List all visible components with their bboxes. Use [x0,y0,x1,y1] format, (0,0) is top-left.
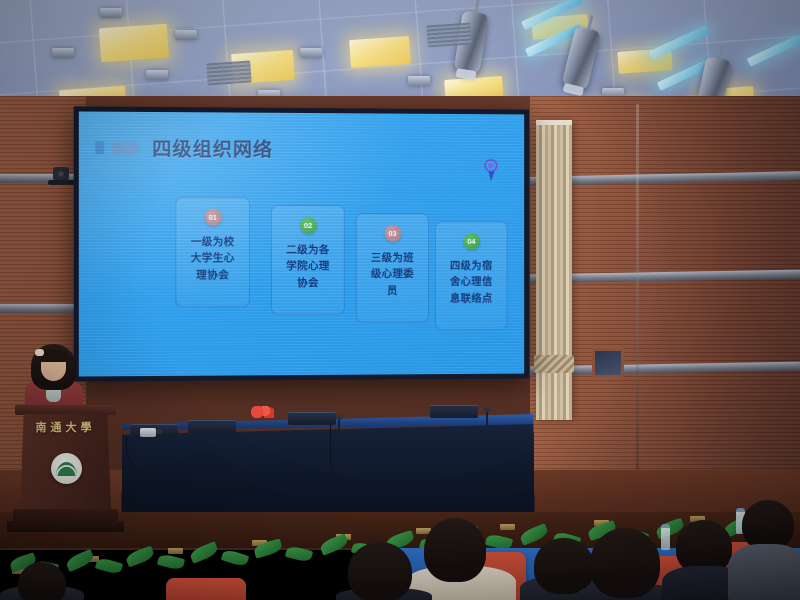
plant-leaf [221,548,249,567]
card-line: 学院心理 [286,258,330,274]
card-text: 二级为各 学院心理 协会 [286,242,330,291]
card-number-badge: 01 [204,209,221,226]
attendee-head [18,562,66,600]
card-number-badge: 02 [300,217,317,234]
curtain-tieback [534,355,574,373]
plant-leaf [65,549,96,572]
card-number-badge: 04 [463,233,480,250]
cable [330,424,350,482]
card-line: 四级为宿 [450,258,493,274]
attendee-head [424,518,486,582]
auditorium-seat [166,578,246,600]
card-text: 三级为班 级心理委 员 [371,250,414,299]
led-screen: 四级组织网络 01 一级为校 大学生心 理协会 [74,106,529,381]
card-number-badge: 03 [384,225,401,242]
plant-leaf [95,557,123,576]
slide-card-row: 01 一级为校 大学生心 理协会 02 二级为各 学院心理 协会 [79,112,524,377]
presenter [23,344,85,410]
table-nameplate [430,405,478,418]
attendee-head [534,538,594,594]
podium-university-name: 南通大學 [18,419,113,435]
wall-camera-bracket [48,180,76,185]
card-line: 理协会 [191,267,235,283]
plant-leaf [125,546,156,568]
wall-recessed-panel [592,348,624,378]
card-line: 协会 [286,274,330,290]
card-line: 一级为校 [191,234,235,250]
card-text: 一级为校 大学生心 理协会 [191,234,235,283]
university-emblem-icon [51,453,82,484]
attendee-head [348,542,412,600]
org-level-card: 03 三级为班 级心理委 员 [356,213,429,323]
plant-leaf [253,538,283,558]
table-microphone [486,410,488,426]
wall-corner-edge [636,104,639,524]
recessed-downlight [300,48,322,58]
card-line: 舍心理信 [450,274,493,290]
presenter-hair-clip [35,349,44,356]
card-line: 三级为班 [371,250,414,266]
table-microphone [158,432,160,448]
table-nameplate [288,412,336,425]
ceiling-air-vent [426,22,471,47]
presentation-slide: 四级组织网络 01 一级为校 大学生心 理协会 [79,112,524,377]
attendee-body [728,544,800,600]
card-line: 员 [371,282,414,298]
lecture-hall-photo: 四级组织网络 01 一级为校 大学生心 理协会 [0,0,800,600]
plant-leaf [189,541,220,564]
recessed-downlight [146,70,168,80]
table-nameplate [188,420,236,433]
table-skirt [122,424,535,512]
org-level-card: 02 二级为各 学院心理 协会 [271,205,345,315]
flower-arrangement [250,406,274,418]
card-line: 级心理委 [371,266,414,282]
conference-table [122,414,535,512]
plant-leaf [285,545,313,563]
ceiling-panel-light [99,24,169,63]
plant-leaf [157,553,185,571]
emblem-inner-shape [56,462,77,476]
card-line: 息联络点 [450,290,493,306]
podium-top [15,405,116,415]
ceiling-air-vent [206,60,251,85]
stage-curtain [536,120,572,420]
podium: 南通大學 [18,405,113,530]
water-bottle [661,524,670,550]
attendee-head [590,528,660,598]
recessed-downlight [408,76,430,86]
card-line: 二级为各 [286,242,330,258]
card-line: 大学生心 [191,250,235,266]
plant-leaf [519,523,550,546]
plant-leaf [319,533,350,556]
ceiling-panel-light [349,36,411,68]
org-level-card: 01 一级为校 大学生心 理协会 [175,197,250,308]
card-text: 四级为宿 舍心理信 息联络点 [450,258,493,306]
attendee-head [742,500,794,550]
org-level-card: 04 四级为宿 舍心理信 息联络点 [435,221,508,330]
recessed-downlight [52,48,74,58]
recessed-downlight [100,8,122,18]
recessed-downlight [175,30,197,40]
wall-camera [53,167,69,181]
